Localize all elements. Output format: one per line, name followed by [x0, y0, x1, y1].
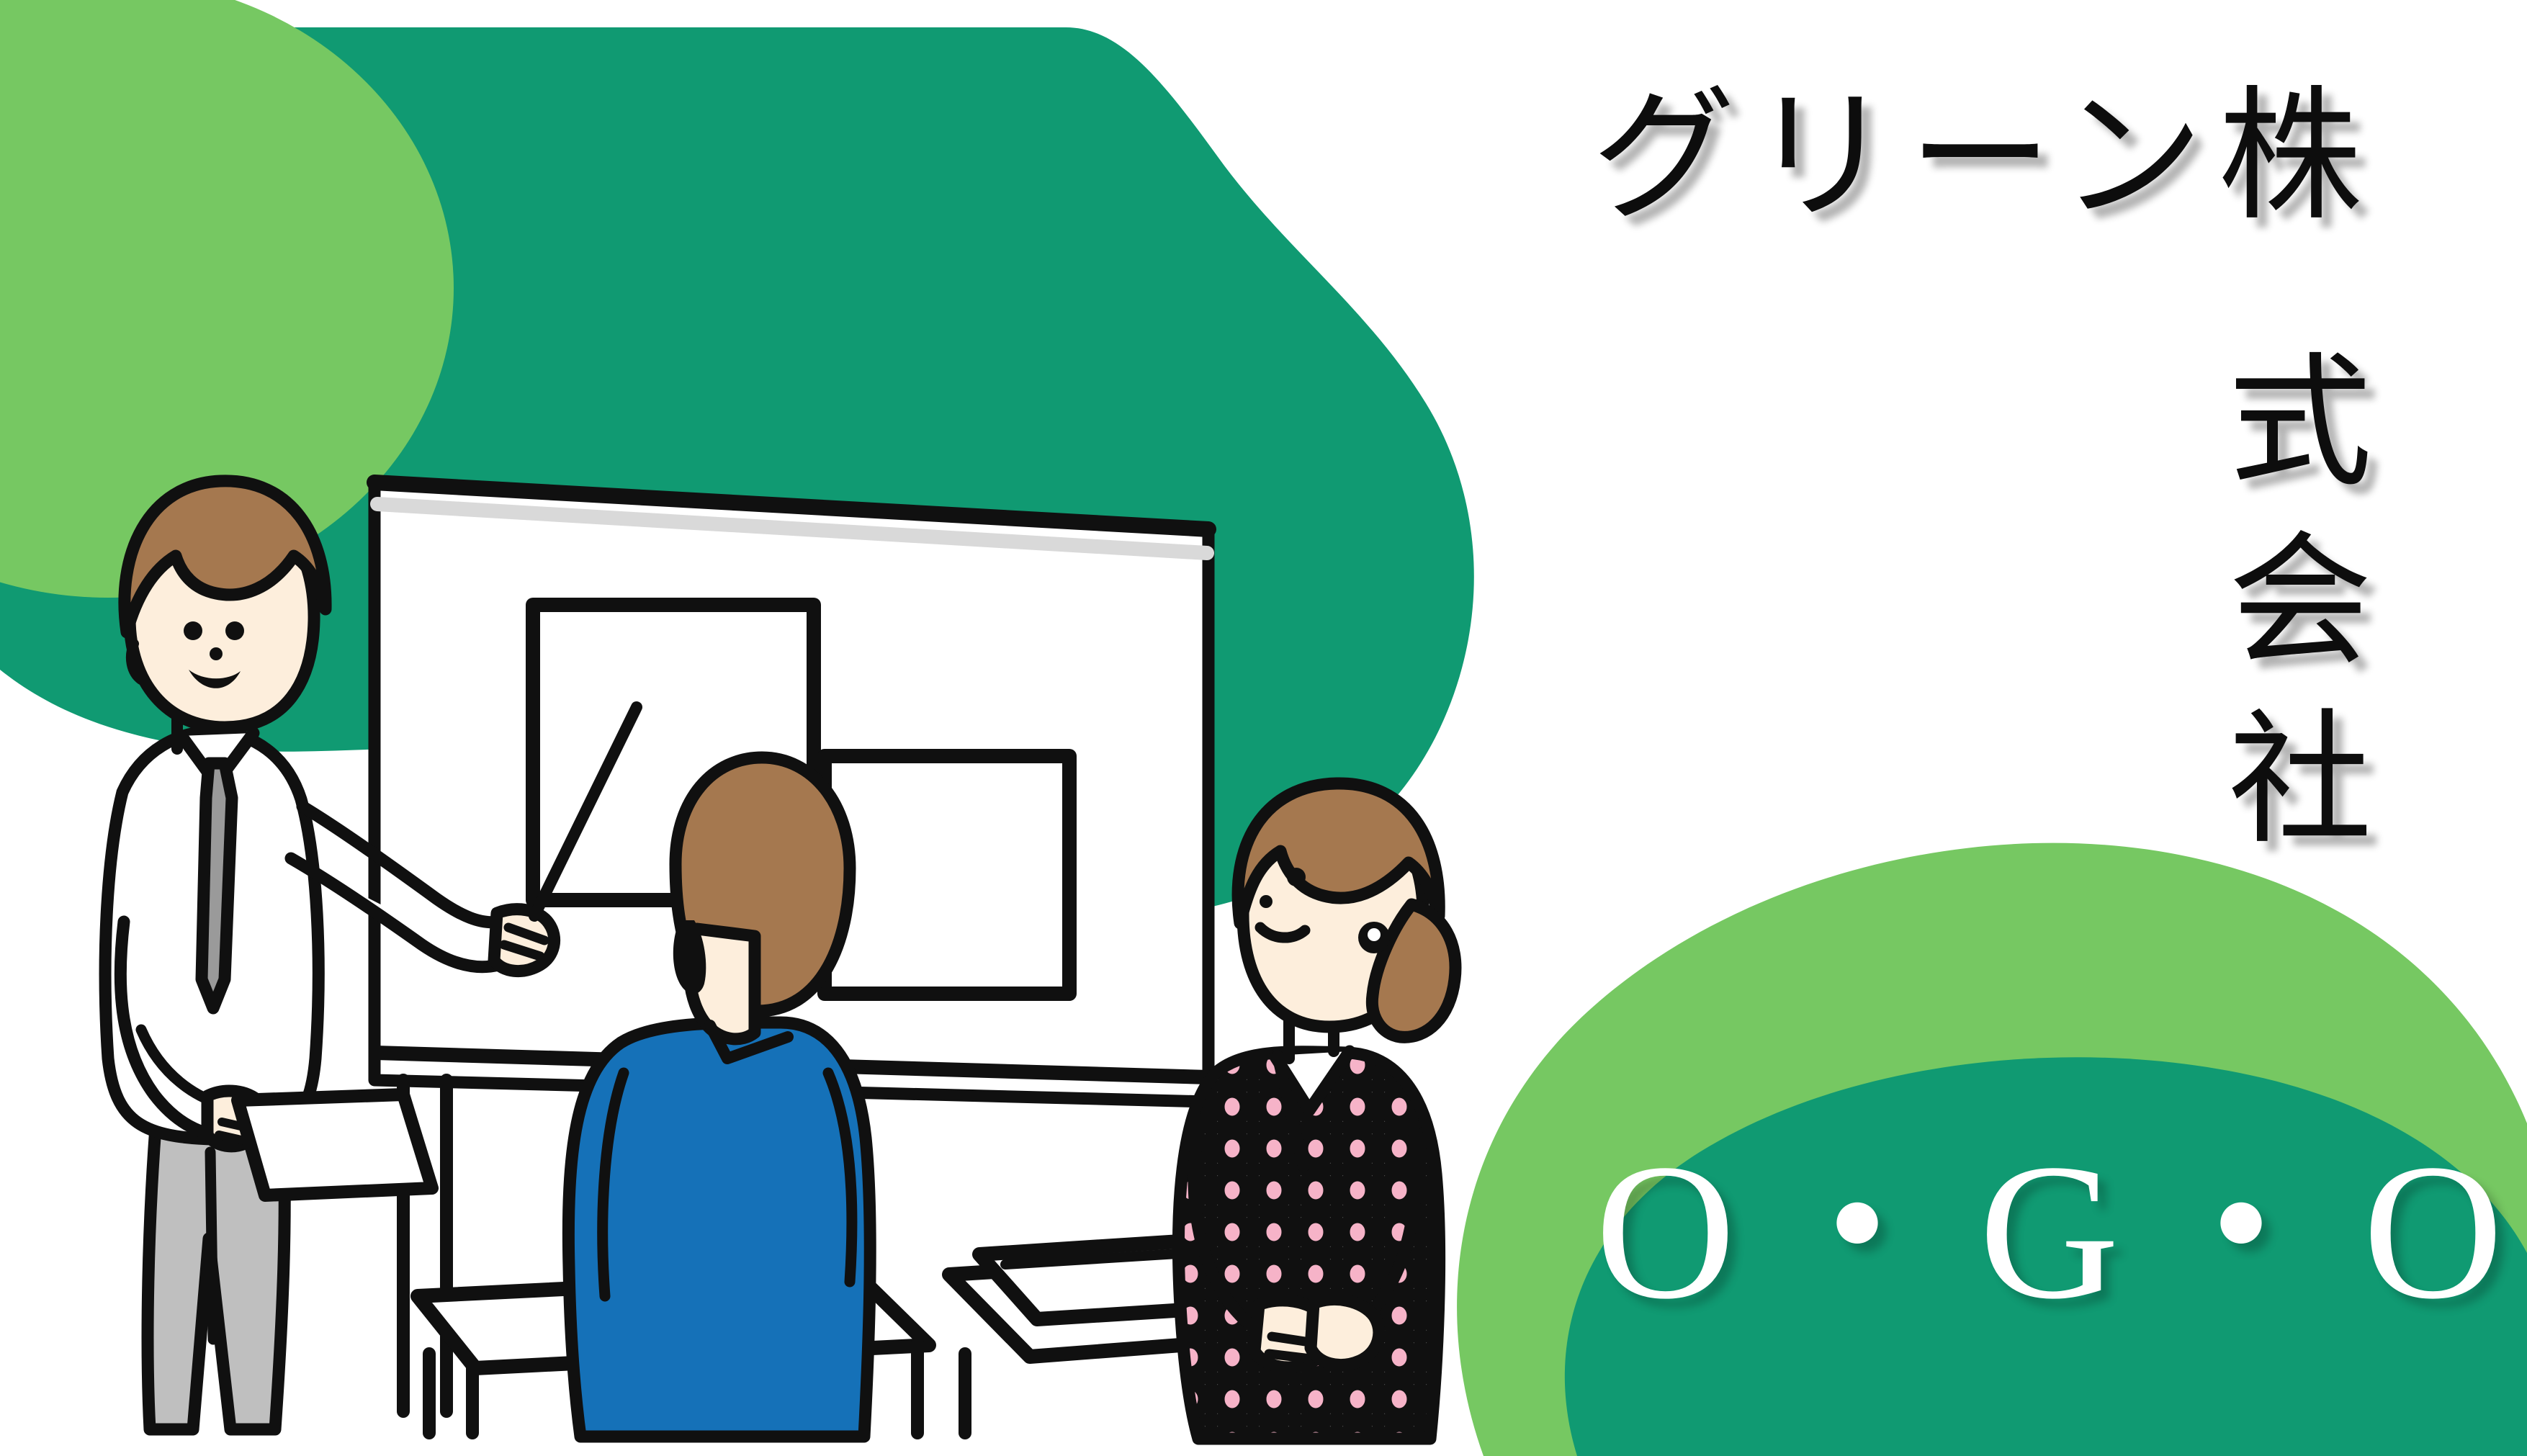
- company-name-vertical: 式会社: [2214, 346, 2358, 881]
- handout-document: [238, 1095, 432, 1195]
- banner-canvas: グリーン株 式会社 O・G・O: [0, 0, 2527, 1456]
- company-name-horizontal: グリーン株: [1592, 85, 2376, 229]
- figure-attendee-woman: [1178, 783, 1455, 1439]
- board-diagram-rect-2: [825, 756, 1069, 994]
- company-initials: O・G・O: [1595, 1071, 2503, 1353]
